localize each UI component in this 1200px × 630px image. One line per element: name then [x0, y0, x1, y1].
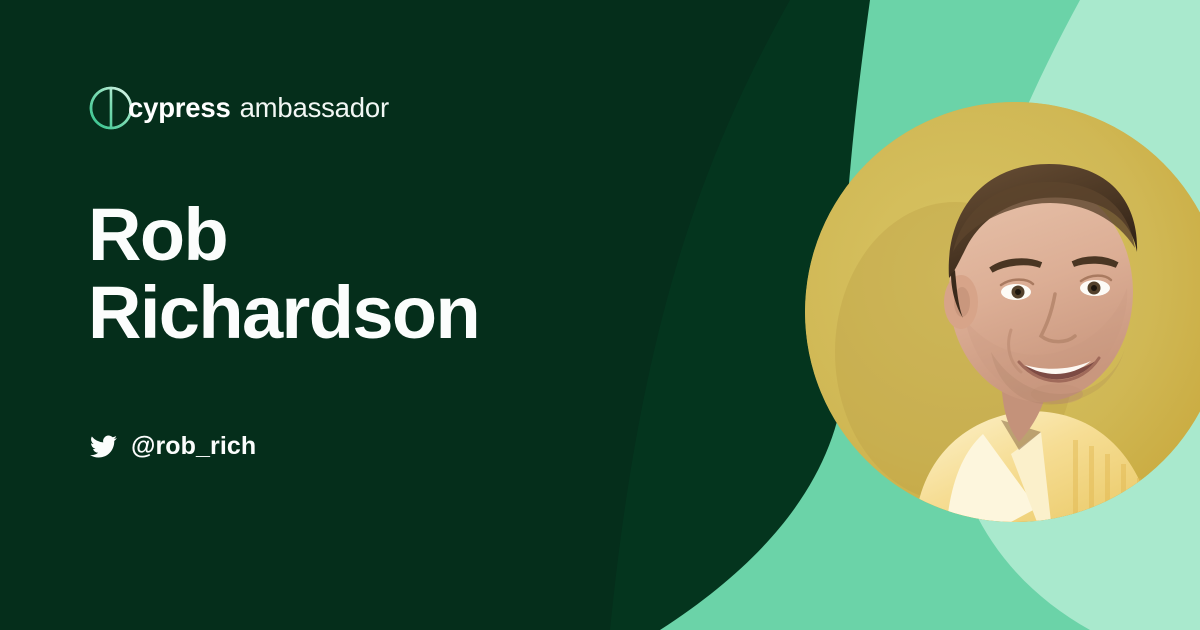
twitter-handle-text: @rob_rich — [131, 432, 256, 461]
avatar — [805, 102, 1200, 522]
content-column: cypress ambassador Rob Richardson @rob_r… — [0, 0, 640, 630]
last-name: Richardson — [88, 274, 648, 352]
page-title: Rob Richardson — [88, 196, 648, 353]
ambassador-card: cypress ambassador Rob Richardson @rob_r… — [0, 0, 1200, 630]
brand-cypress-text: cypress — [128, 94, 231, 122]
brand-wordmark: cypress ambassador — [128, 94, 389, 122]
twitter-bird-icon — [90, 433, 117, 460]
brand-lockup: cypress ambassador — [88, 85, 389, 131]
brand-ambassador-text: ambassador — [240, 94, 389, 122]
social-handle-row[interactable]: @rob_rich — [90, 432, 256, 461]
first-name: Rob — [88, 196, 648, 274]
